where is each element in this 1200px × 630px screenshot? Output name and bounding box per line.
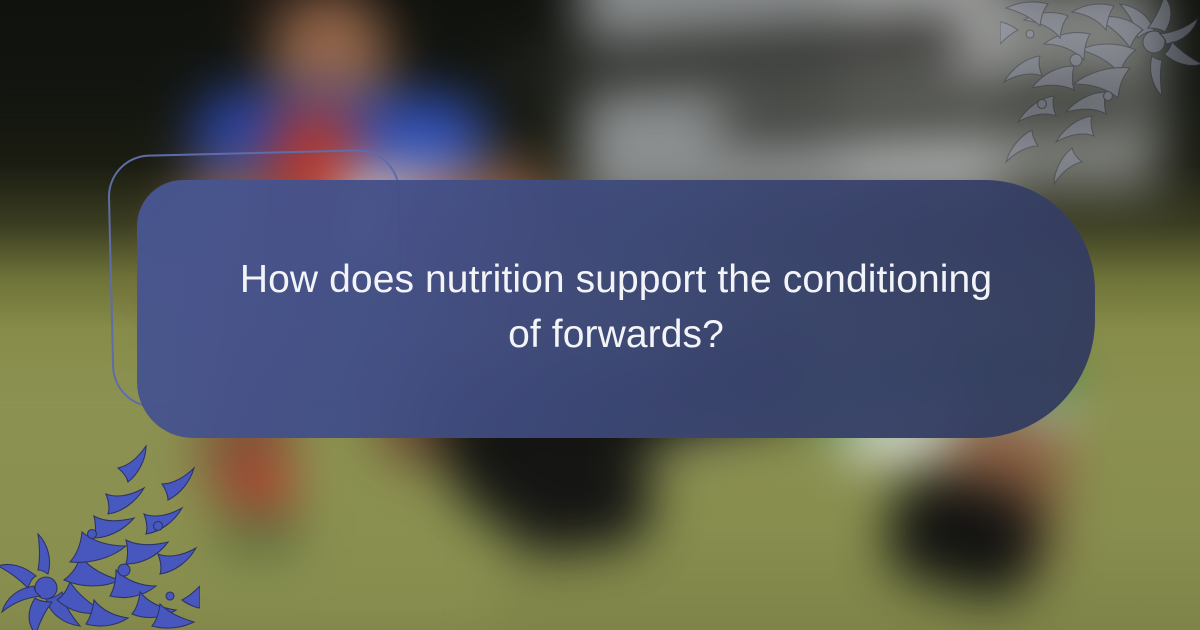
background-shoe-shadow [220, 505, 300, 555]
background-black-sock-3 [494, 422, 656, 557]
page-root: How does nutrition support the condition… [0, 0, 1200, 630]
question-card: How does nutrition support the condition… [137, 180, 1095, 438]
question-title: How does nutrition support the condition… [221, 252, 1011, 363]
